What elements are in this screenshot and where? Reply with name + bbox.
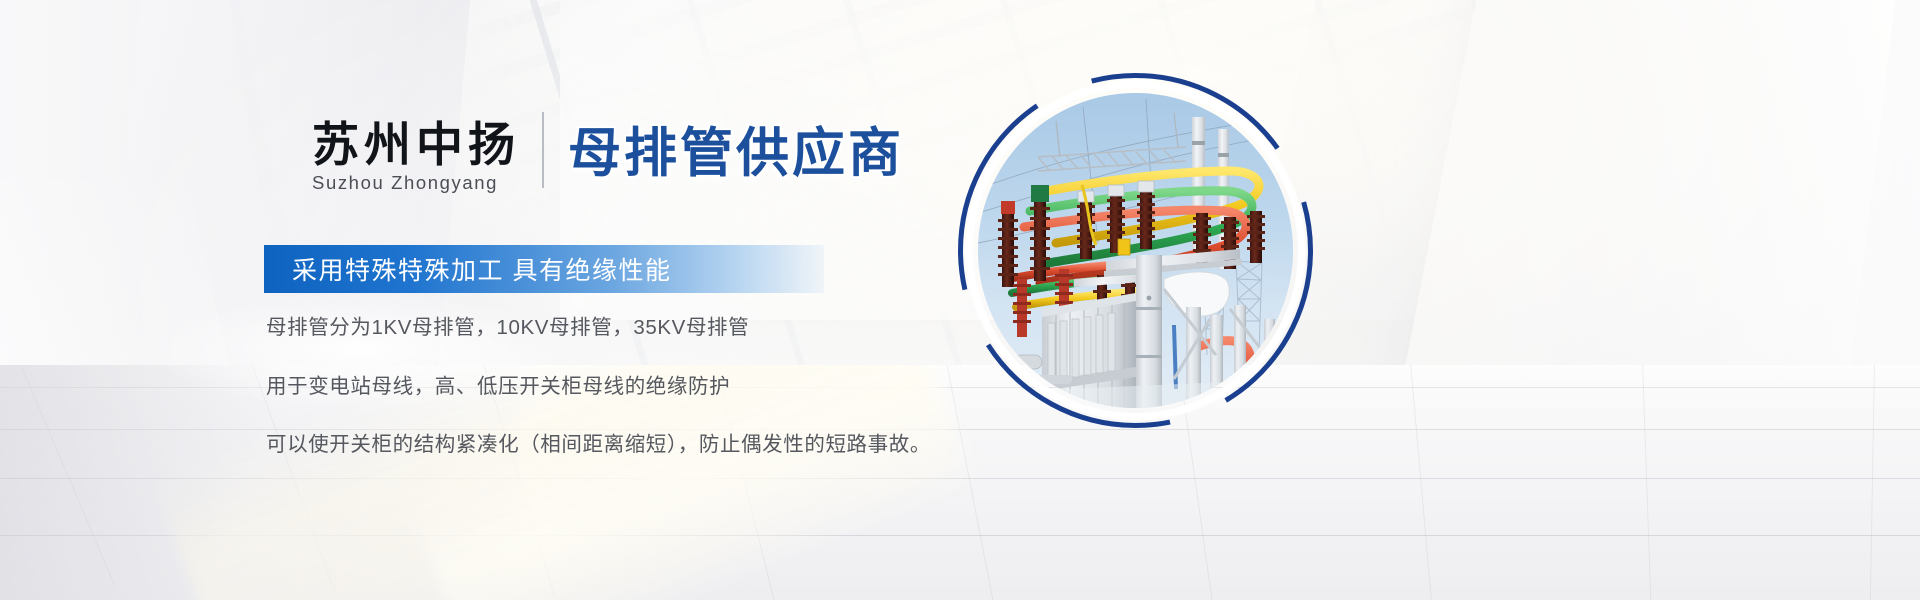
substation-photo — [978, 93, 1293, 408]
brand-logo: 苏州中扬 Suzhou Zhongyang — [312, 120, 542, 194]
slogan-text: 采用特殊特殊加工 具有绝缘性能 — [292, 251, 671, 287]
photo-clip — [978, 93, 1293, 408]
slogan-bar: 采用特殊特殊加工 具有绝缘性能 — [264, 245, 824, 293]
promo-banner: 苏州中扬 Suzhou Zhongyang 母排管供应商 采用特殊特殊加工 具有… — [0, 0, 1920, 600]
substation-illustration — [978, 93, 1293, 408]
body-line: 可以使开关柜的结构紧凑化（相间距离缩短），防止偶发性的短路事故。 — [266, 435, 931, 456]
brand-headline-row: 苏州中扬 Suzhou Zhongyang 母排管供应商 — [312, 112, 904, 194]
brand-name-cn: 苏州中扬 — [312, 120, 520, 169]
body-line: 用于变电站母线，高、低压开关柜母线的绝缘防护 — [266, 377, 931, 398]
banner-content: 苏州中扬 Suzhou Zhongyang 母排管供应商 采用特殊特殊加工 具有… — [0, 0, 1920, 600]
body-line: 母排管分为1KV母排管，10KV母排管，35KV母排管 — [266, 318, 931, 339]
brand-name-pinyin: Suzhou Zhongyang — [312, 172, 520, 194]
body-copy: 母排管分为1KV母排管，10KV母排管，35KV母排管 用于变电站母线，高、低压… — [266, 318, 931, 494]
brand-divider — [542, 112, 544, 188]
product-photo-medallion — [957, 72, 1314, 429]
headline-text: 母排管供应商 — [568, 127, 904, 180]
